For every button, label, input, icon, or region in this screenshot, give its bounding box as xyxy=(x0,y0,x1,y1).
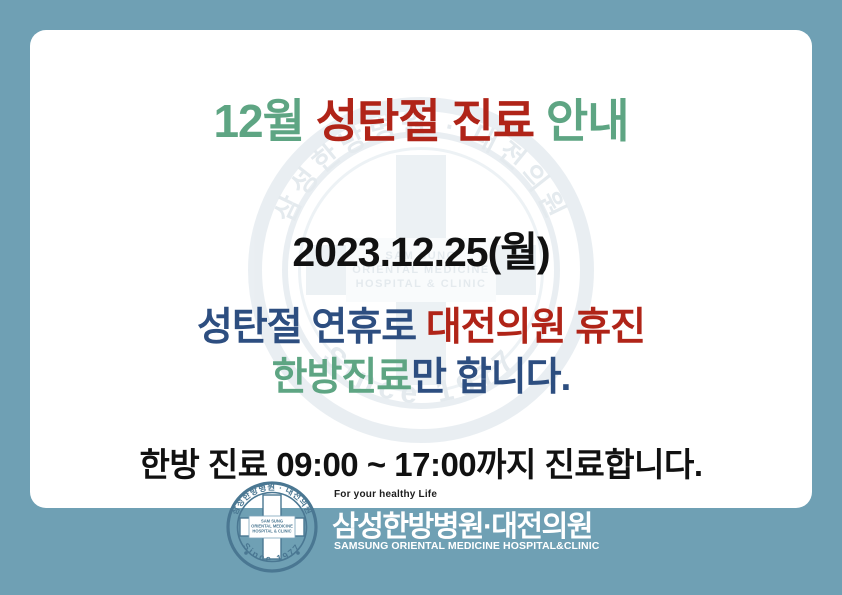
title-month: 12월 xyxy=(213,95,315,147)
emblem-plate-line-3: HOSPITAL & CLINIC xyxy=(252,529,291,534)
title-subject: 성탄절 진료 xyxy=(316,95,546,147)
clinic-hours: 한방 진료 09:00 ~ 17:00까지 진료합니다. xyxy=(30,438,812,486)
poster-title: 12월 성탄절 진료 안내 xyxy=(30,85,812,151)
logo-tagline: For your healthy Life xyxy=(334,489,437,500)
logo-brand-english: SAMSUNG ORIENTAL MEDICINE HOSPITAL&CLINI… xyxy=(334,540,599,552)
line2-closed-text: 대전의원 휴진 xyxy=(426,306,645,349)
notice-line-3: 한방진료만 합니다. xyxy=(30,346,812,402)
title-notice: 안내 xyxy=(546,95,629,147)
poster-canvas: SAM SUNG ORIENTAL MEDICINE HOSPITAL & CL… xyxy=(0,0,842,595)
line2-holiday-text: 성탄절 연휴로 xyxy=(197,306,426,349)
hospital-logo: SAM SUNG ORIENTAL MEDICINE HOSPITAL & CL… xyxy=(226,481,586,573)
poster-card: SAM SUNG ORIENTAL MEDICINE HOSPITAL & CL… xyxy=(30,30,812,508)
watermark-plate-line-3: HOSPITAL & CLINIC xyxy=(356,278,487,290)
notice-date: 2023.12.25(월) xyxy=(30,218,812,278)
notice-line-2: 성탄절 연휴로 대전의원 휴진 xyxy=(30,296,812,352)
line3-only-open: 만 합니다. xyxy=(411,356,570,399)
logo-brand-korean: 삼성한방병원·대전의원 xyxy=(332,503,592,545)
hospital-emblem-icon: SAM SUNG ORIENTAL MEDICINE HOSPITAL & CL… xyxy=(226,481,318,573)
line3-oriental-clinic: 한방진료 xyxy=(272,356,412,399)
